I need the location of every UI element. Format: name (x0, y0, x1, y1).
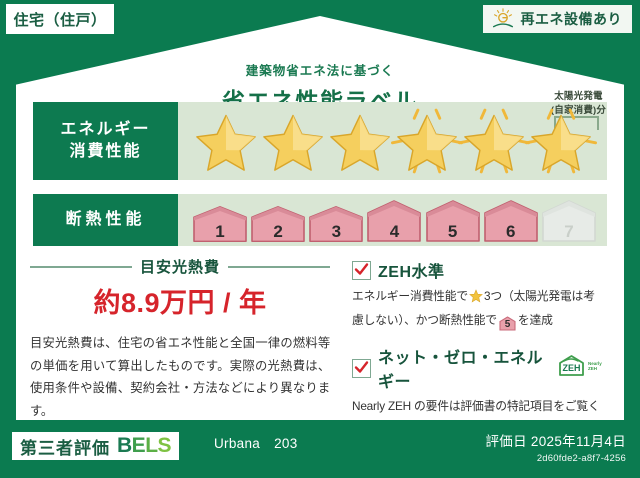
zeh-house-logo: ZEH Nearly ZEH (558, 354, 604, 383)
zeh-desc-part3: を達成 (518, 313, 553, 327)
svg-text:ZEH: ZEH (563, 363, 581, 373)
grade-badge-5: 5 (425, 199, 481, 243)
grade-number: 1 (215, 223, 224, 240)
zeh-standard-heading: ZEH水準 (352, 258, 604, 282)
cost-heading-text: 目安光熱費 (140, 256, 220, 277)
star-icon-solar (528, 105, 595, 177)
document-id: 2d60fde2-a8f7-4256 (485, 453, 626, 464)
net-zero-heading: ネット・ゼロ・エネルギー ZEH Nearly ZEH (352, 344, 604, 392)
unit-number: 203 (274, 436, 297, 451)
third-party-label: 第三者評価 (20, 434, 110, 459)
net-zero-title: ネット・ゼロ・エネルギー (378, 344, 548, 392)
footer-bar: 第三者評価 BELS Urbana 203 評価日 2025年11月4日 2d6… (0, 420, 640, 478)
building-info: Urbana 203 (214, 436, 298, 451)
zeh-standard-block: ZEH水準 エネルギー消費性能で3つ（太陽光発電は考慮しない）、かつ断熱性能で5… (352, 258, 604, 331)
evaluation-date: 評価日 2025年11月4日 (485, 430, 626, 450)
grade-badge-1: 1 (192, 205, 248, 243)
zeh-desc-part1: エネルギー消費性能で (352, 289, 468, 303)
grade-number: 6 (506, 223, 515, 240)
housing-type-label: 住宅（住戸） (13, 9, 106, 30)
insulation-grades-panel: 1 2 3 4 5 6 7 (178, 194, 607, 246)
star-icon (192, 105, 259, 177)
bels-certification-tag: 第三者評価 BELS (12, 432, 179, 460)
building-name: Urbana (214, 436, 260, 451)
energy-performance-label: 住宅（住戸） 再エネ設備あり 建築物省エネ法に基づく 省エネ性能ラベル (0, 0, 640, 478)
star-icon (469, 292, 483, 306)
svg-text:ZEH: ZEH (588, 366, 597, 371)
inline-grade-badge: 5 (499, 316, 516, 331)
rule-right (228, 266, 330, 268)
star-icon-solar (394, 105, 461, 177)
grade-badge-7: 7 (541, 199, 597, 243)
grade-badge-3: 3 (308, 205, 364, 243)
check-icon (352, 359, 371, 378)
zeh-standard-description: エネルギー消費性能で3つ（太陽光発電は考慮しない）、かつ断熱性能で5を達成 (352, 286, 604, 331)
cost-value: 約8.9万円 / 年 (30, 281, 330, 320)
star-rating (186, 102, 601, 180)
insulation-performance-label: 断熱性能 (33, 194, 178, 246)
grade-badge-4: 4 (366, 199, 422, 243)
grade-badge-2: 2 (250, 205, 306, 243)
grade-number: 2 (273, 223, 282, 240)
energy-label-line1: エネルギー (60, 119, 150, 141)
energy-performance-row: エネルギー 消費性能 太陽光発電(自家消費)分 (33, 102, 607, 180)
energy-stars-panel: 太陽光発電(自家消費)分 (178, 102, 607, 180)
bels-logo: BELS (117, 434, 171, 458)
grade-number: 7 (564, 223, 573, 240)
sun-icon (490, 8, 516, 30)
grade-number: 5 (448, 223, 457, 240)
energy-label-line2: 消費性能 (69, 141, 141, 163)
zeh-standard-title: ZEH水準 (378, 258, 445, 282)
inline-grade-value: 5 (505, 319, 510, 330)
star-icon-solar (461, 105, 528, 177)
check-icon (352, 261, 371, 280)
star-icon (259, 105, 326, 177)
grade-scale: 1 2 3 4 5 6 7 (192, 194, 597, 246)
renewable-equipment-badge: 再エネ設備あり (483, 5, 633, 33)
rule-left (30, 266, 132, 268)
evaluation-info: 評価日 2025年11月4日 2d60fde2-a8f7-4256 (485, 430, 626, 464)
cost-heading: 目安光熱費 (30, 256, 330, 277)
star-icon (326, 105, 393, 177)
insulation-label-text: 断熱性能 (65, 209, 145, 231)
title-subtitle: 建築物省エネ法に基づく (16, 60, 624, 79)
renewable-equipment-label: 再エネ設備あり (521, 9, 623, 29)
housing-type-tag: 住宅（住戸） (6, 4, 114, 34)
grade-badge-6: 6 (483, 199, 539, 243)
grade-number: 3 (332, 223, 341, 240)
insulation-performance-row: 断熱性能 1 2 3 4 5 6 (33, 194, 607, 246)
cost-note: 目安光熱費は、住宅の省エネ性能と全国一律の燃料等の単価を用いて算出したものです。… (30, 332, 330, 423)
grade-number: 4 (390, 223, 399, 240)
energy-performance-label: エネルギー 消費性能 (33, 102, 178, 180)
utility-cost-section: 目安光熱費 約8.9万円 / 年 目安光熱費は、住宅の省エネ性能と全国一律の燃料… (30, 256, 330, 423)
